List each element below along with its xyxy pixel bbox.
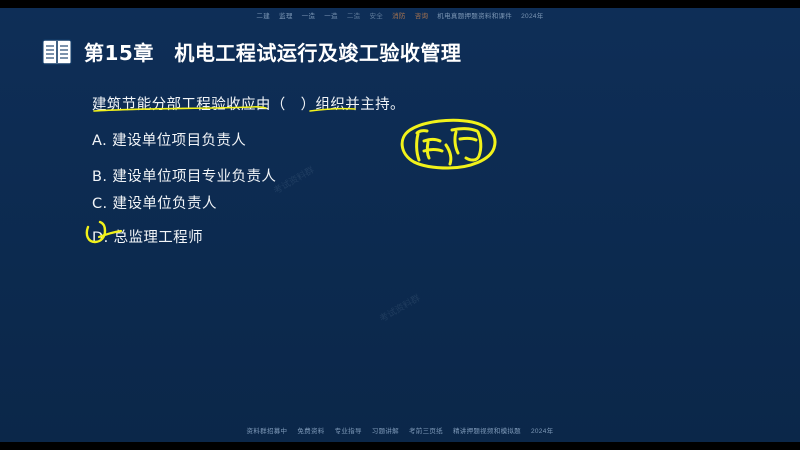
watermark: 考试资料群 [272,165,317,197]
top-strip-item: 消防 [392,10,406,20]
question-text: 建筑节能分部工程验收应由（ ）组织并主持。 [92,93,405,114]
bottom-strip-item: 习题讲解 [372,425,399,435]
handwriting-annotation-layer [0,8,800,442]
bottom-strip-item: 专业指导 [335,425,362,435]
bottom-strip-item: 考前三页纸 [409,425,443,435]
bottom-strip-item: 2024年 [531,425,553,435]
bottom-strip-item: 资料群招募中 [247,425,288,435]
presentation-slide: 二建 监理 一造 一造 二造 安全 消防 咨询 机电真题押题资料和课件 2024… [0,8,800,442]
top-strip-item: 二造 [347,10,361,20]
option-c[interactable]: C. 建设单位负责人 [92,192,217,213]
chapter-title: 第15章 机电工程试运行及竣工验收管理 [84,37,461,66]
book-icon [42,39,72,65]
handwritten-characters [402,120,495,168]
watermark: 考试资料群 [378,293,423,325]
top-strip-item: 监理 [279,10,293,20]
top-strip-item: 一造 [324,10,338,20]
top-strip-item: 咨询 [415,10,429,20]
option-a[interactable]: A. 建设单位项目负责人 [92,129,246,150]
top-strip-item: 安全 [369,10,383,20]
top-strip-item: 2024年 [521,10,543,20]
option-b[interactable]: B. 建设单位项目专业负责人 [92,165,276,186]
top-strip-item: 二建 [256,10,270,20]
top-strip-item: 机电真题押题资料和课件 [437,10,512,20]
bottom-strip-item: 精讲押题视频和模拟题 [453,425,521,435]
slide-stage: 二建 监理 一造 一造 二造 安全 消防 咨询 机电真题押题资料和课件 2024… [0,0,800,450]
top-info-strip: 二建 监理 一造 一造 二造 安全 消防 咨询 机电真题押题资料和课件 2024… [0,8,800,22]
bottom-strip-item: 免费资料 [297,425,324,435]
bottom-info-strip: 资料群招募中 免费资料 专业指导 习题讲解 考前三页纸 精讲押题视频和模拟题 2… [0,424,800,436]
top-strip-item: 一造 [302,10,316,20]
chapter-header: 第15章 机电工程试运行及竣工验收管理 [42,37,461,66]
option-d[interactable]: D. 总监理工程师 [92,226,203,247]
